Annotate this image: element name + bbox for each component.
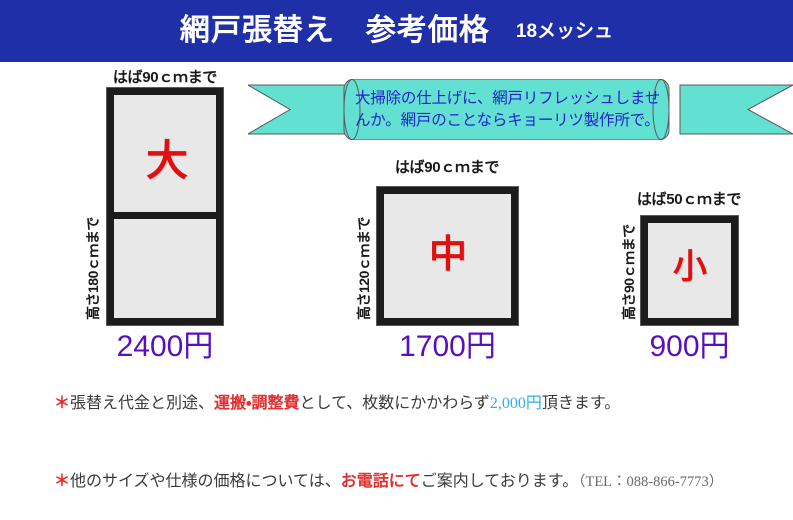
footer-asterisk-1: ＊ [54, 395, 70, 412]
footer-asterisk-2: ＊ [54, 473, 70, 490]
footer-note-line-2: ＊他のサイズや仕様の価格については、お電話にてご案内しております。（TEL：08… [38, 443, 778, 520]
footer-note1-emphasis: 運搬・調整費 [214, 395, 299, 412]
door-card-small: はば50ｃｍまで 高さ90ｃｍまで 小 900円 [0, 0, 793, 360]
footer-note1-part1: 張替え代金と別途、 [70, 395, 214, 412]
footer-phone-number: （TEL：088-866-7773） [578, 474, 723, 490]
footer-note1-part2: として、枚数にかかわらず [299, 395, 489, 412]
footer-note2-part1: 他のサイズや仕様の価格については、 [70, 473, 341, 490]
footer-note2-emphasis: お電話にて [341, 473, 421, 490]
footer-note-line-1: ＊張替え代金と別途、運搬・調整費として、枚数にかかわらず2,000円頂きます。 [38, 365, 778, 443]
door-height-label-small: 高さ90ｃｍまで [622, 224, 636, 320]
footer-note2-part2: ご案内しております。 [421, 473, 578, 490]
door-width-label-small: はば50ｃｍまで [631, 192, 747, 207]
footer-note1-amount: 2,000円 [490, 395, 542, 412]
footer-notes: ＊張替え代金と別途、運搬・調整費として、枚数にかかわらず2,000円頂きます。 … [38, 365, 778, 520]
door-size-char-small: 小 [673, 250, 707, 284]
footer-note1-part3: 頂きます。 [542, 395, 620, 412]
door-price-small: 900円 [641, 332, 738, 362]
